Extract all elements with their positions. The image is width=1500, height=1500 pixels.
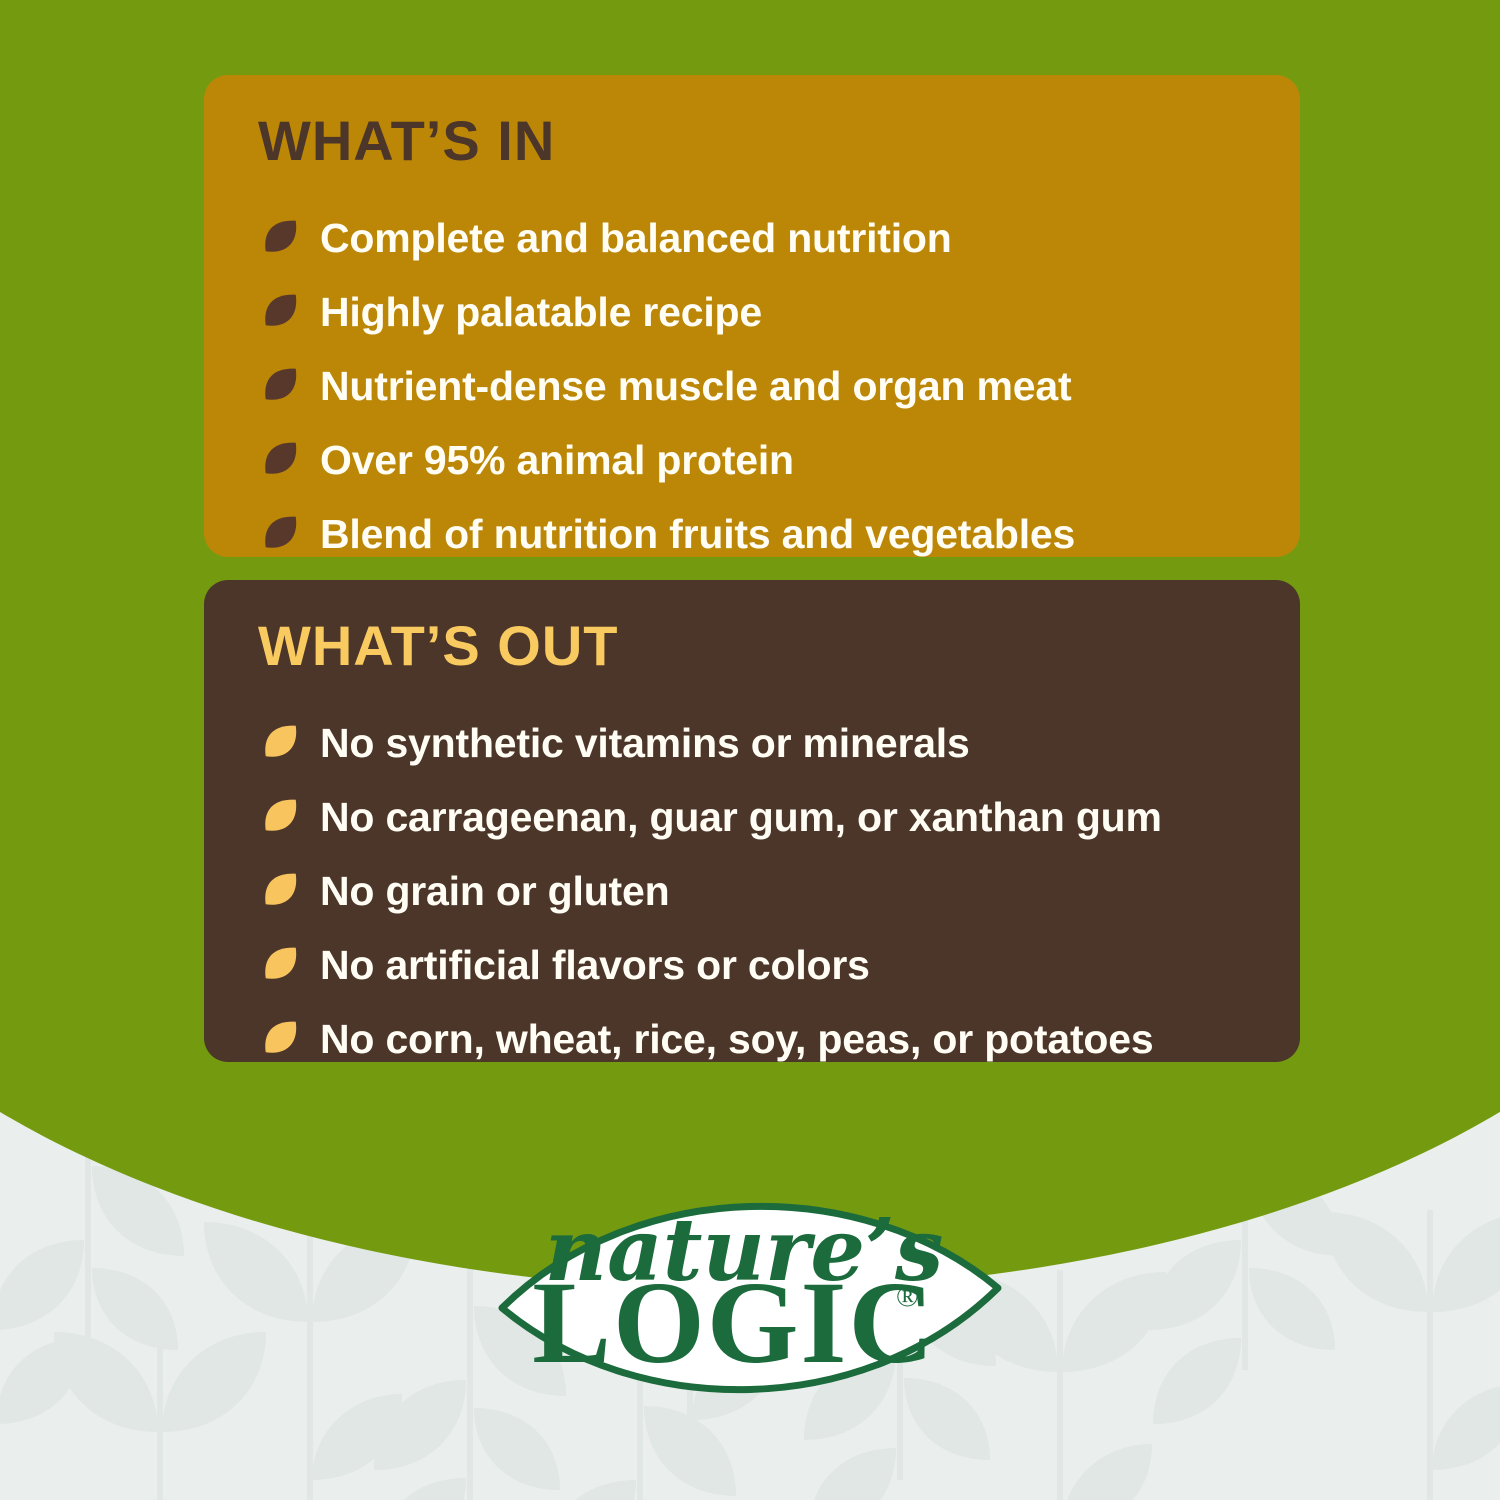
list-item: No artificial flavors or colors <box>258 930 1270 1000</box>
list-item: No grain or gluten <box>258 856 1270 926</box>
leaf-icon <box>258 215 304 261</box>
list-item-label: No grain or gluten <box>320 868 669 915</box>
logo-wordmark-text: LOGIC <box>532 1257 935 1388</box>
registered-trademark-icon: ® <box>896 1280 919 1313</box>
list-item: Blend of nutrition fruits and vegetables <box>258 499 1270 569</box>
list-item: No carrageenan, guar gum, or xanthan gum <box>258 782 1270 852</box>
whats-in-list: Complete and balanced nutrition Highly p… <box>258 203 1270 573</box>
list-item-label: Highly palatable recipe <box>320 289 762 336</box>
infographic-canvas: WHAT’S IN Complete and balanced nutritio… <box>0 0 1500 1500</box>
leaf-icon <box>258 868 304 914</box>
leaf-icon <box>258 942 304 988</box>
list-item-label: Blend of nutrition fruits and vegetables <box>320 511 1075 558</box>
whats-out-title: WHAT’S OUT <box>258 618 618 674</box>
whats-out-card: WHAT’S OUT No synthetic vitamins or mine… <box>204 580 1300 1062</box>
list-item: No synthetic vitamins or minerals <box>258 708 1270 778</box>
leaf-icon <box>258 1016 304 1062</box>
list-item-label: Nutrient-dense muscle and organ meat <box>320 363 1071 410</box>
leaf-icon <box>258 720 304 766</box>
list-item-label: Complete and balanced nutrition <box>320 215 952 262</box>
whats-in-card: WHAT’S IN Complete and balanced nutritio… <box>204 75 1300 557</box>
leaf-icon <box>258 511 304 557</box>
list-item-label: Over 95% animal protein <box>320 437 794 484</box>
leaf-icon <box>258 363 304 409</box>
list-item-label: No carrageenan, guar gum, or xanthan gum <box>320 794 1162 841</box>
brand-logo: nature’s LOGIC ® <box>496 1182 1004 1412</box>
leaf-icon <box>258 437 304 483</box>
list-item-label: No artificial flavors or colors <box>320 942 870 989</box>
leaf-icon <box>258 289 304 335</box>
list-item: No corn, wheat, rice, soy, peas, or pota… <box>258 1004 1270 1074</box>
list-item-label: No corn, wheat, rice, soy, peas, or pota… <box>320 1016 1153 1063</box>
whats-in-title: WHAT’S IN <box>258 113 555 169</box>
list-item-label: No synthetic vitamins or minerals <box>320 720 970 767</box>
leaf-icon <box>258 794 304 840</box>
list-item: Highly palatable recipe <box>258 277 1270 347</box>
list-item: Over 95% animal protein <box>258 425 1270 495</box>
list-item: Complete and balanced nutrition <box>258 203 1270 273</box>
list-item: Nutrient-dense muscle and organ meat <box>258 351 1270 421</box>
whats-out-list: No synthetic vitamins or minerals No car… <box>258 708 1270 1078</box>
